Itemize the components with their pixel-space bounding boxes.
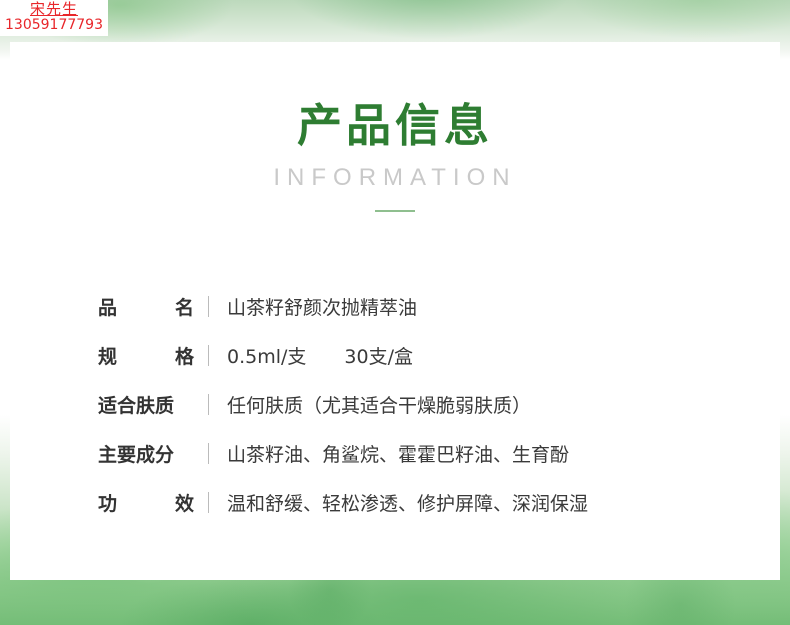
page-title: 产品信息 <box>10 100 780 152</box>
row-label: 品 名 <box>98 293 194 320</box>
row-label: 适合肤质 <box>98 391 194 418</box>
watermark: 宋先生 13059177793 <box>0 0 108 36</box>
row-value: 山茶籽舒颜次抛精萃油 <box>227 293 417 320</box>
row-separator <box>208 492 209 513</box>
row-value: 山茶籽油、角鲨烷、霍霍巴籽油、生育酚 <box>227 440 569 467</box>
table-row: 品 名 山茶籽舒颜次抛精萃油 <box>98 282 718 331</box>
watermark-phone: 13059177793 <box>4 18 104 33</box>
product-info-table: 品 名 山茶籽舒颜次抛精萃油 规 格 0.5ml/支 30支/盒 适合肤质 任何… <box>98 282 718 527</box>
row-label: 规 格 <box>98 342 194 369</box>
row-label-char: 品 <box>98 293 117 320</box>
row-value: 0.5ml/支 30支/盒 <box>227 342 413 369</box>
table-row: 规 格 0.5ml/支 30支/盒 <box>98 331 718 380</box>
row-label-char: 名 <box>175 293 194 320</box>
content-card: 产品信息 INFORMATION 品 名 山茶籽舒颜次抛精萃油 规 格 0.5m… <box>10 42 780 580</box>
row-separator <box>208 345 209 366</box>
product-information-page: 产品信息 INFORMATION 品 名 山茶籽舒颜次抛精萃油 规 格 0.5m… <box>0 0 790 625</box>
watermark-name: 宋先生 <box>4 2 104 18</box>
row-label: 功 效 <box>98 489 194 516</box>
title-divider <box>375 210 415 212</box>
row-label-char: 规 <box>98 342 117 369</box>
row-separator <box>208 296 209 317</box>
row-separator <box>208 394 209 415</box>
row-label-char: 效 <box>175 489 194 516</box>
table-row: 主要成分 山茶籽油、角鲨烷、霍霍巴籽油、生育酚 <box>98 429 718 478</box>
row-label-char: 功 <box>98 489 117 516</box>
row-separator <box>208 443 209 464</box>
table-row: 适合肤质 任何肤质（尤其适合干燥脆弱肤质） <box>98 380 718 429</box>
row-value: 温和舒缓、轻松渗透、修护屏障、深润保湿 <box>227 489 588 516</box>
table-row: 功 效 温和舒缓、轻松渗透、修护屏障、深润保湿 <box>98 478 718 527</box>
page-title-block: 产品信息 INFORMATION <box>10 100 780 212</box>
page-subtitle: INFORMATION <box>10 164 780 192</box>
row-label: 主要成分 <box>98 440 194 467</box>
row-label-char: 格 <box>175 342 194 369</box>
row-value: 任何肤质（尤其适合干燥脆弱肤质） <box>227 391 531 418</box>
